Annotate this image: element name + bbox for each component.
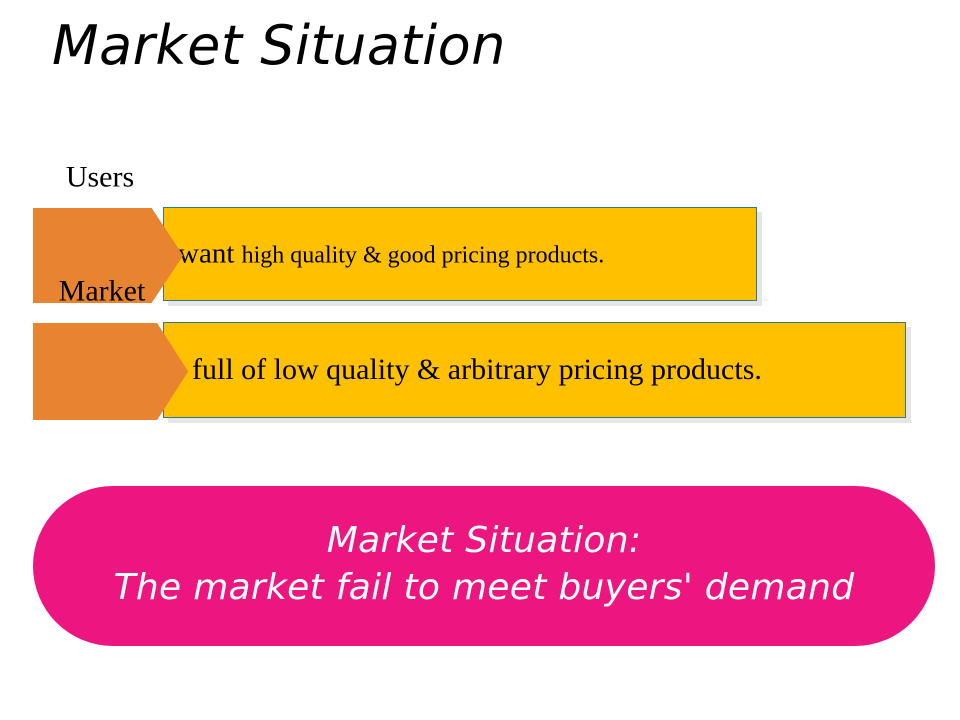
conclusion-text: Market Situation: The market fail to mee… xyxy=(114,517,855,615)
page-title: Market Situation xyxy=(52,14,506,78)
statement-text-market: full of low quality & arbitrary pricing … xyxy=(164,353,933,387)
chevron-label-market: Market xyxy=(33,275,171,372)
statement-text-users: want high quality & good pricing product… xyxy=(164,238,770,271)
conclusion-banner: Market Situation: The market fail to mee… xyxy=(33,486,935,646)
statement-banner-market: full of low quality & arbitrary pricing … xyxy=(163,322,906,418)
chevron-label-users: Users xyxy=(33,161,167,256)
statement-banner-users: want high quality & good pricing product… xyxy=(163,207,757,301)
statement-rest-users: high quality & good pricing products. xyxy=(242,243,605,269)
slide-canvas: Market Situation want high quality & goo… xyxy=(0,0,960,720)
statement-lead-users: want xyxy=(178,238,242,270)
